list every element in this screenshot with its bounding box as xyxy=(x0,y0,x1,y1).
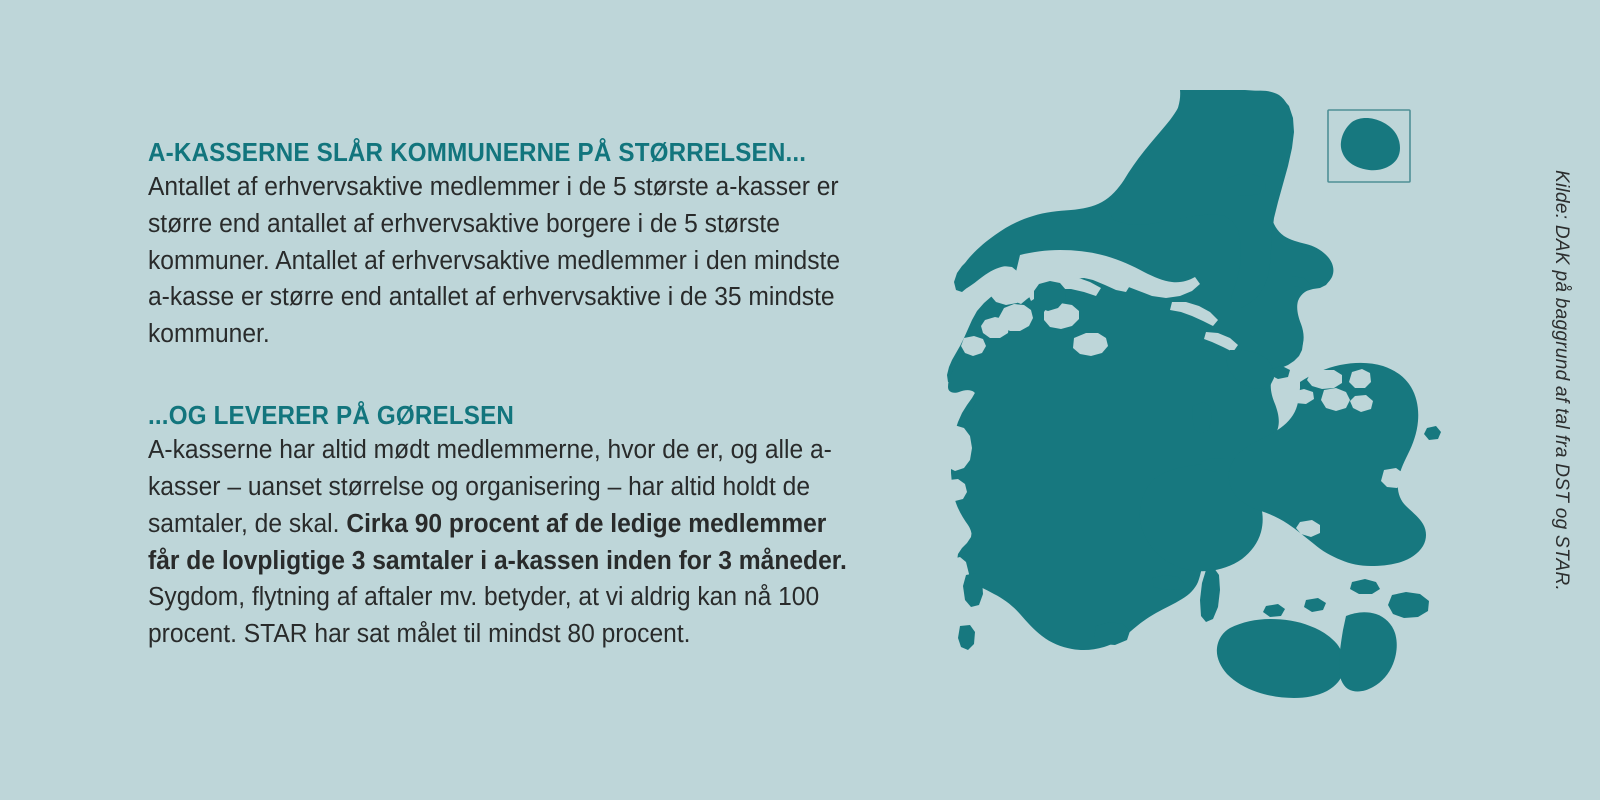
section-spacer xyxy=(148,353,888,401)
source-note: Kilde: DAK på baggrund af tal fra DST og… xyxy=(1550,170,1572,591)
map-island-bornholm xyxy=(1341,118,1400,170)
section-body-size: Antallet af erhvervsaktive medlemmer i d… xyxy=(148,169,862,353)
delivery-text-run-3: Sygdom, flytning af aftaler mv. betyder,… xyxy=(148,583,819,648)
text-column: A-KASSERNE SLÅR KOMMUNERNE PÅ STØRRELSEN… xyxy=(148,138,888,653)
map-island-south-cluster-c xyxy=(1263,604,1285,617)
poster-canvas: A-KASSERNE SLÅR KOMMUNERNE PÅ STØRRELSEN… xyxy=(0,0,1600,800)
map-island-fano xyxy=(963,573,983,607)
map-island-south-cluster-b xyxy=(1304,598,1326,612)
map-island-romo xyxy=(958,625,975,650)
map-island-falster xyxy=(1339,612,1397,691)
section-body-delivery: A-kasserne har altid mødt medlemmerne, h… xyxy=(148,432,862,653)
map-island-south-cluster-a xyxy=(1350,579,1380,594)
map-island-mon xyxy=(1388,592,1429,618)
map-island-lolland xyxy=(1217,619,1345,698)
section-heading-delivery: ...OG LEVERER PÅ GØRELSEN xyxy=(148,401,836,429)
section-heading-size: A-KASSERNE SLÅR KOMMUNERNE PÅ STØRRELSEN… xyxy=(148,138,836,166)
denmark-map xyxy=(900,70,1480,720)
map-island-langeland xyxy=(1200,568,1220,622)
map-island-ven xyxy=(1424,426,1441,440)
